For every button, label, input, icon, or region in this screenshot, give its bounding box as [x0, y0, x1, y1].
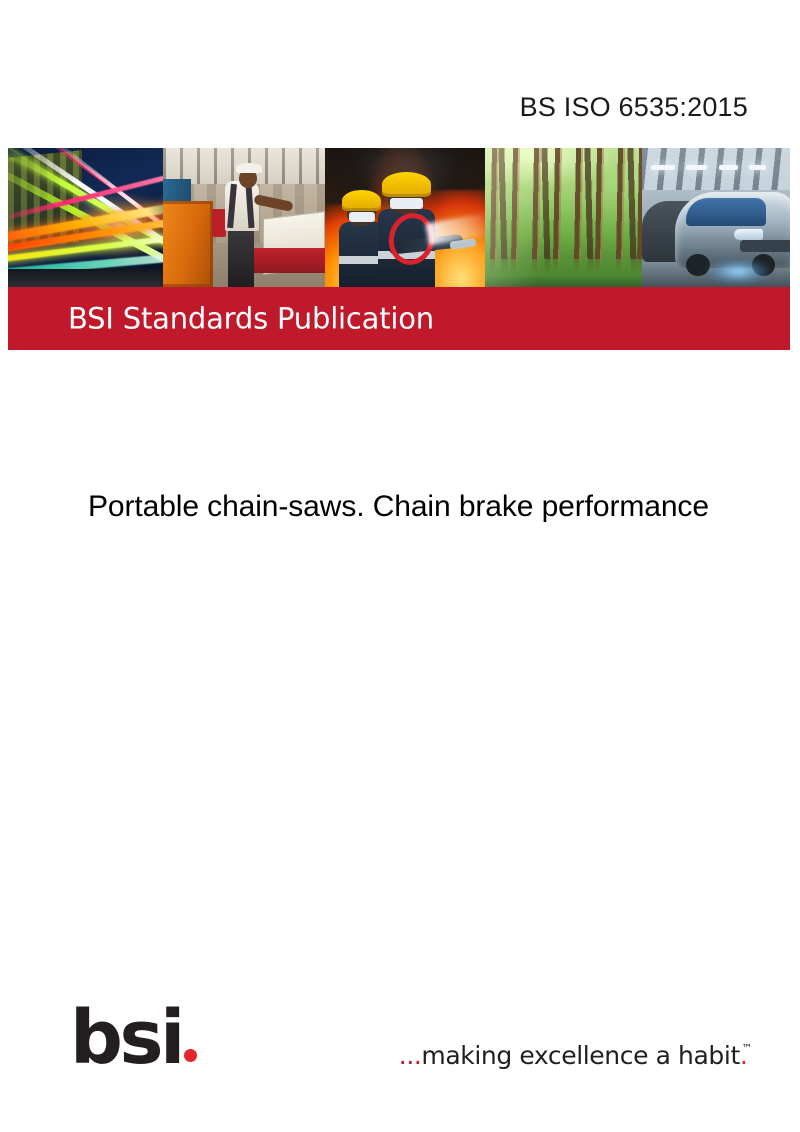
page-title: Portable chain-saws. Chain brake perform…: [88, 488, 756, 526]
bsi-logo-wordmark: bsi: [70, 1012, 182, 1065]
worker-legs: [228, 226, 254, 287]
banner-image-warehouse: [163, 148, 325, 287]
cover-banner: BSI Standards Publication: [8, 148, 790, 350]
assembly-lamp-1: [651, 165, 675, 171]
forest-sunlight: [485, 148, 642, 287]
assembly-floor-glow: [707, 259, 769, 284]
worker-cap: [236, 163, 262, 173]
light-trails-road: [8, 269, 163, 287]
assembly-car-windscreen: [686, 198, 766, 226]
trademark-icon: ™: [741, 1042, 752, 1055]
cover-page: BS ISO 6535:2015: [0, 0, 800, 1132]
firefighter-front-helmet: [382, 172, 430, 197]
cover-footer: bsi ...making excellence a habit.™: [0, 962, 800, 1132]
firefighter-rear-mask: [349, 212, 375, 222]
warehouse-red-bin: [252, 248, 325, 273]
standard-number: BS ISO 6535:2015: [0, 92, 748, 123]
assembly-lamp-4: [749, 165, 767, 171]
banner-image-light-trails: [8, 148, 163, 287]
bsi-tagline: ...making excellence a habit.™: [399, 1041, 758, 1070]
tagline-ellipsis: ...: [399, 1041, 422, 1070]
firefighter-front-mask: [390, 198, 422, 209]
assembly-car-grille: [740, 240, 790, 253]
warehouse-orange-crate: [163, 201, 213, 287]
assembly-car-headlight: [734, 229, 764, 240]
banner-image-forest: [485, 148, 642, 287]
banner-image-firefighters: [325, 148, 485, 287]
publication-label: BSI Standards Publication: [68, 301, 434, 335]
assembly-lamp-2: [686, 165, 707, 171]
publication-banner-bar: BSI Standards Publication: [8, 287, 790, 350]
assembly-lamp-3: [719, 165, 738, 171]
warehouse-red-figure: [212, 209, 227, 237]
bsi-logo-dot-icon: [184, 1049, 197, 1062]
banner-photo-strip: [8, 148, 790, 287]
tagline-text: making excellence a habit: [421, 1041, 739, 1070]
banner-image-car-assembly: [642, 148, 790, 287]
bsi-logo: bsi: [70, 1003, 197, 1065]
